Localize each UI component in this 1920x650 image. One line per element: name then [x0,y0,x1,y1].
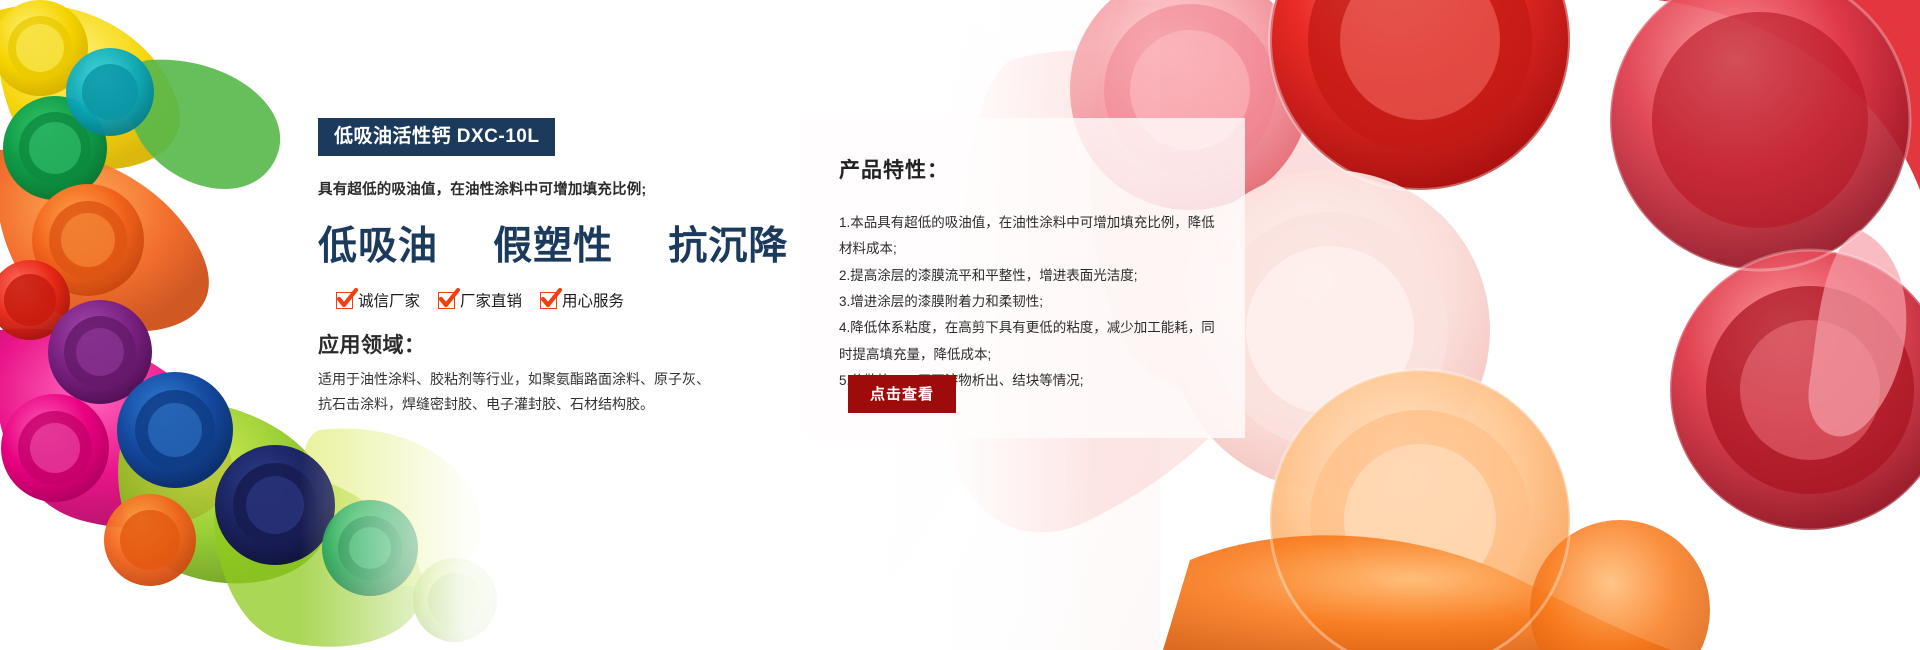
trust-badge-label: 诚信厂家 [358,289,420,311]
checkbox-checked-icon [540,292,557,309]
checkbox-checked-icon [336,292,353,309]
application-section-title: 应用领域： [318,329,738,359]
trust-badge-item: 用心服务 [540,289,624,311]
product-subtitle: 具有超低的吸油值，在油性涂料中可增加填充比例; [318,178,738,199]
application-section-body: 适用于油性涂料、胶粘剂等行业，如聚氨酯路面涂料、原子灰、抗石击涂料，焊缝密封胶、… [318,367,718,416]
feature-item: 1.本品具有超低的吸油值，在油性涂料中可增加填充比例，降低材料成本; [839,210,1219,263]
headline-word-2: 假塑性 [493,223,613,269]
trust-badge-label: 厂家直销 [460,289,522,311]
trust-badge-label: 用心服务 [562,289,624,311]
checkbox-checked-icon [438,292,455,309]
product-name-badge: 低吸油活性钙 DXC-10L [318,118,555,156]
headline-word-3: 抗沉降 [668,223,788,269]
trust-badge-item: 诚信厂家 [336,289,420,311]
features-panel-title: 产品特性： [839,154,1245,184]
features-list: 1.本品具有超低的吸油值，在油性涂料中可增加填充比例，降低材料成本; 2.提高涂… [839,210,1219,394]
feature-item: 3.增进涂层的漆膜附着力和柔韧性; [839,289,1219,315]
product-headline: 低吸油 假塑性 抗沉降 [318,215,738,271]
trust-badge-item: 厂家直销 [438,289,522,311]
product-info-block: 低吸油活性钙 DXC-10L 具有超低的吸油值，在油性涂料中可增加填充比例; 低… [318,118,738,416]
feature-item: 4.降低体系粘度，在高剪下具有更低的粘度，减少加工能耗，同时提高填充量，降低成本… [839,315,1219,368]
trust-badges-row: 诚信厂家 厂家直销 用心服务 [336,289,738,311]
feature-item: 2.提高涂层的漆膜流平和平整性，增进表面光洁度; [839,263,1219,289]
headline-word-1: 低吸油 [318,223,438,269]
banner-stage: 低吸油活性钙 DXC-10L 具有超低的吸油值，在油性涂料中可增加填充比例; 低… [0,0,1920,650]
view-details-button[interactable]: 点击查看 [848,375,956,413]
